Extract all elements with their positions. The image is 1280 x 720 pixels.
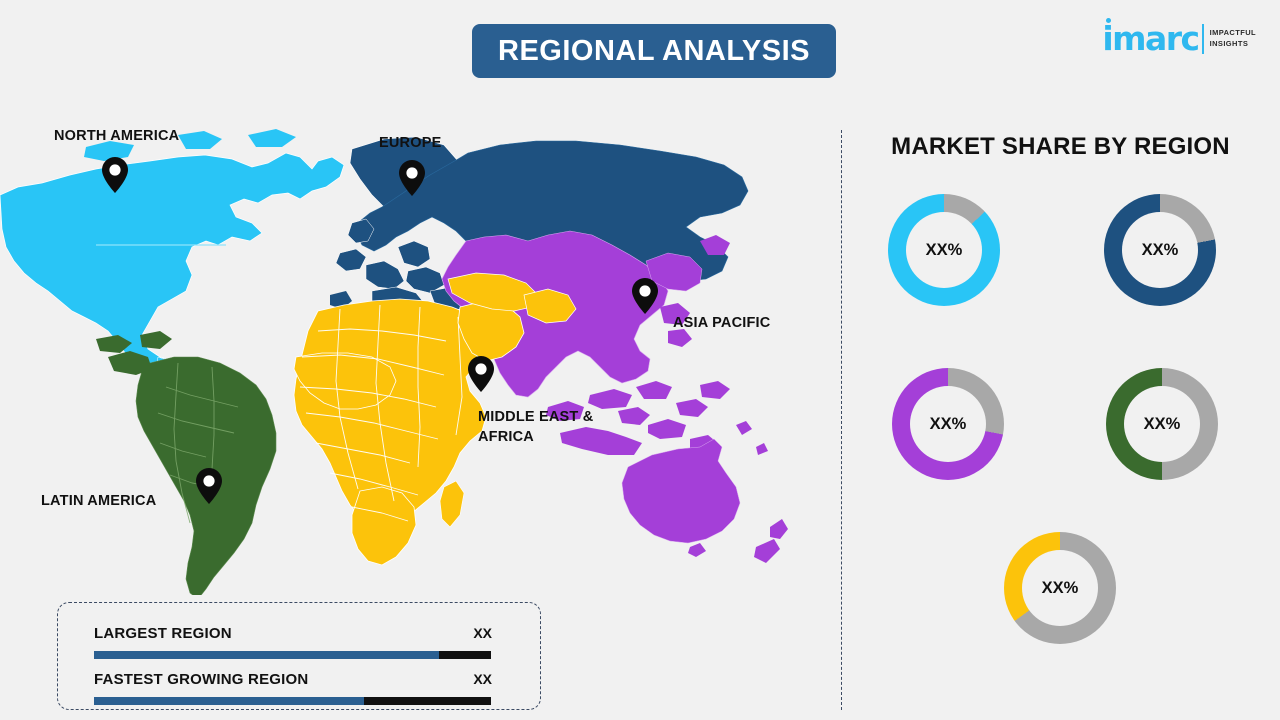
- logo-tagline: IMPACTFUL INSIGHTS: [1210, 28, 1256, 50]
- donut-value-europe: XX%: [1142, 241, 1179, 260]
- legend-bar-largest-region: [94, 651, 491, 659]
- logo-wordmark: imarc: [1102, 22, 1198, 55]
- donut-chart-asia-pacific: XX%: [892, 368, 1004, 480]
- region-label-north-america: NORTH AMERICA: [54, 127, 179, 147]
- legend-label-largest-region: LARGEST REGION: [94, 625, 232, 642]
- panel-divider: [841, 130, 842, 710]
- world-map-svg: [0, 95, 830, 595]
- legend-bar-fastest-growing-region: [94, 697, 491, 705]
- legend-bar-fill-largest-region: [94, 651, 439, 659]
- market-share-title: MARKET SHARE BY REGION: [841, 133, 1280, 161]
- legend-bar-fill-fastest-growing-region: [94, 697, 364, 705]
- donut-center-middle-east-africa: XX%: [1022, 550, 1098, 626]
- infographic-canvas: REGIONAL ANALYSIS imarc IMPACTFUL INSIGH…: [0, 0, 1280, 720]
- donut-value-asia-pacific: XX%: [930, 415, 967, 434]
- logo-word-text: imarc: [1102, 19, 1198, 58]
- donut-center-latin-america: XX%: [1124, 386, 1200, 462]
- region-label-europe: EUROPE: [379, 134, 441, 154]
- legend-row-largest-region: LARGEST REGION XX: [94, 625, 506, 643]
- logo-tagline-line1: IMPACTFUL: [1210, 28, 1256, 39]
- legend-value-fastest-growing-region: XX: [473, 671, 492, 687]
- donut-center-north-america: XX%: [906, 212, 982, 288]
- donut-chart-middle-east-africa: XX%: [1004, 532, 1116, 644]
- logo-divider-bar: [1202, 24, 1204, 54]
- map-region-latin-america[interactable]: [96, 331, 276, 595]
- donut-chart-europe: XX%: [1104, 194, 1216, 306]
- legend-value-largest-region: XX: [473, 625, 492, 641]
- page-title-banner: REGIONAL ANALYSIS: [472, 24, 836, 78]
- legend-row-fastest-growing-region: FASTEST GROWING REGION XX: [94, 671, 506, 689]
- page-title: REGIONAL ANALYSIS: [498, 35, 810, 68]
- donut-chart-latin-america: XX%: [1106, 368, 1218, 480]
- region-label-middle-east-africa: MIDDLE EAST & AFRICA: [478, 408, 593, 447]
- legend-label-fastest-growing-region: FASTEST GROWING REGION: [94, 671, 308, 688]
- donut-value-latin-america: XX%: [1144, 415, 1181, 434]
- donut-value-middle-east-africa: XX%: [1042, 579, 1079, 598]
- donut-chart-north-america: XX%: [888, 194, 1000, 306]
- donut-center-europe: XX%: [1122, 212, 1198, 288]
- region-label-asia-pacific: ASIA PACIFIC: [673, 314, 770, 334]
- imarc-logo: imarc IMPACTFUL INSIGHTS: [1102, 22, 1256, 55]
- donut-value-north-america: XX%: [926, 241, 963, 260]
- donut-center-asia-pacific: XX%: [910, 386, 986, 462]
- legend-box: LARGEST REGION XX FASTEST GROWING REGION…: [57, 602, 541, 710]
- region-label-latin-america: LATIN AMERICA: [41, 492, 156, 512]
- logo-tagline-line2: INSIGHTS: [1210, 39, 1256, 50]
- world-map: [0, 95, 830, 595]
